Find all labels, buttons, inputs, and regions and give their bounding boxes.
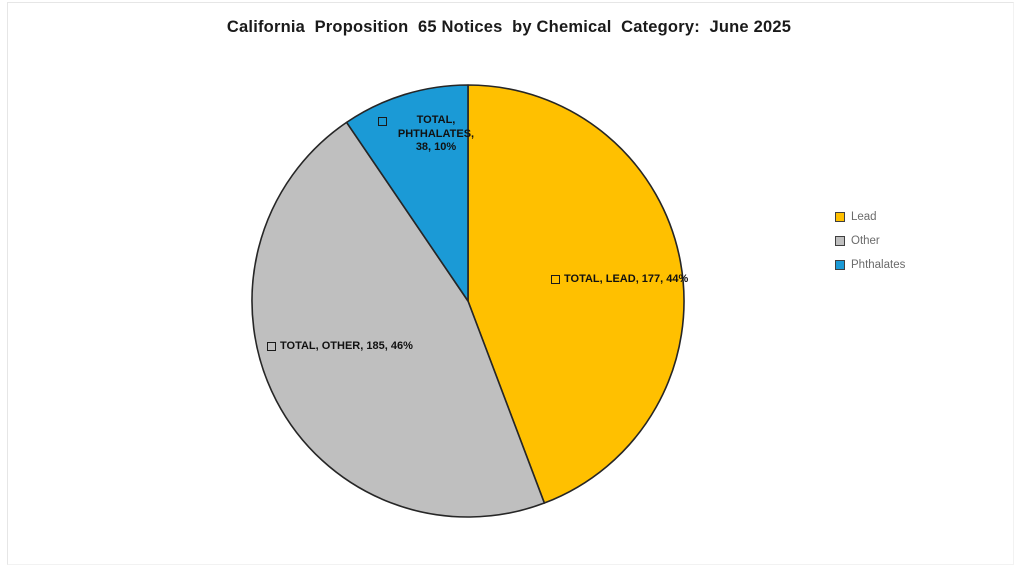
legend-label-lead: Lead bbox=[851, 211, 877, 223]
data-label-phthalates-line-1: TOTAL, bbox=[392, 114, 480, 128]
data-label-marker-icon bbox=[378, 117, 387, 126]
legend-item-phthalates[interactable]: Phthalates bbox=[835, 253, 975, 277]
legend-label-other: Other bbox=[851, 235, 880, 247]
legend-item-lead[interactable]: Lead bbox=[835, 205, 975, 229]
pie-plot-area: TOTAL, LEAD, 177, 44% TOTAL, OTHER, 185,… bbox=[0, 0, 1018, 569]
data-label-marker-icon bbox=[267, 342, 276, 351]
data-label-phthalates[interactable]: TOTAL, PHTHALATES, 38, 10% bbox=[376, 114, 480, 155]
data-label-marker-icon bbox=[551, 275, 560, 284]
pie-chart-svg bbox=[0, 0, 1018, 569]
data-label-other[interactable]: TOTAL, OTHER, 185, 46% bbox=[267, 340, 413, 354]
legend-swatch-lead-icon bbox=[835, 212, 845, 222]
legend-swatch-other-icon bbox=[835, 236, 845, 246]
chart-canvas: California Proposition 65 Notices by Che… bbox=[0, 0, 1018, 569]
legend-item-other[interactable]: Other bbox=[835, 229, 975, 253]
legend-label-phthalates: Phthalates bbox=[851, 259, 905, 271]
data-label-other-text: TOTAL, OTHER, 185, 46% bbox=[280, 340, 413, 352]
chart-legend: Lead Other Phthalates bbox=[835, 205, 975, 277]
data-label-phthalates-line-3: 38, 10% bbox=[392, 141, 480, 155]
data-label-phthalates-line-2: PHTHALATES, bbox=[392, 128, 480, 142]
data-label-lead[interactable]: TOTAL, LEAD, 177, 44% bbox=[551, 273, 688, 287]
data-label-lead-text: TOTAL, LEAD, 177, 44% bbox=[564, 273, 688, 285]
legend-swatch-phthalates-icon bbox=[835, 260, 845, 270]
